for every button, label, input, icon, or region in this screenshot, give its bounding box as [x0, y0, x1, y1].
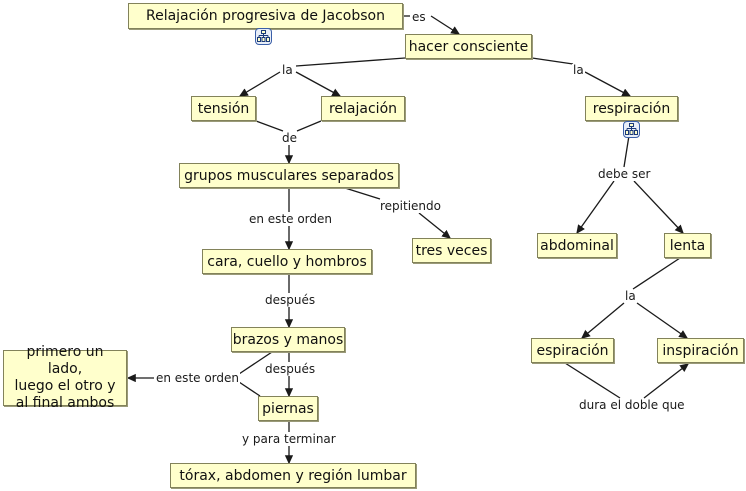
node-grupos[interactable]: grupos musculares separados: [179, 163, 399, 188]
link-label-despues2[interactable]: después: [264, 363, 316, 376]
edge-la2-resp: [585, 72, 630, 96]
node-cara[interactable]: cara, cuello y hombros: [202, 249, 372, 274]
node-tres[interactable]: tres veces: [412, 238, 491, 263]
edge-es-consc: [431, 16, 459, 34]
edge-la3-espir: [582, 303, 624, 338]
node-lenta[interactable]: lenta: [664, 233, 711, 258]
edge-debeser-abdom: [577, 181, 614, 233]
node-brazos[interactable]: brazos y manos: [231, 327, 345, 352]
link-label-la2[interactable]: la: [572, 64, 585, 77]
node-espir[interactable]: espiración: [531, 338, 614, 363]
edge-repit-tres: [419, 213, 450, 238]
concept-map-canvas: Relajación progresiva de Jacobsonhacer c…: [0, 0, 746, 491]
link-label-de[interactable]: de: [281, 132, 298, 145]
link-label-la1[interactable]: la: [281, 64, 294, 77]
node-consc[interactable]: hacer consciente: [405, 34, 532, 59]
edge-la1-relaj: [296, 72, 340, 96]
edge-debeser-lenta: [634, 181, 683, 233]
node-inspir[interactable]: inspiración: [657, 338, 744, 363]
node-orden3[interactable]: primero un lado, luego el otro y al fina…: [3, 350, 127, 406]
edge-espir-durael: [565, 363, 620, 398]
edge-durael-inspir: [644, 364, 688, 398]
link-label-durael[interactable]: dura el doble que: [578, 399, 686, 412]
edge-la1-tension: [240, 72, 280, 96]
node-abdominal[interactable]: abdominal: [537, 233, 617, 258]
edge-la3-inspir: [637, 303, 687, 338]
edge-consc-la1: [296, 58, 405, 66]
edge-lenta-la3: [633, 258, 680, 289]
node-root[interactable]: Relajación progresiva de Jacobson: [128, 3, 403, 29]
node-tension[interactable]: tensión: [191, 96, 256, 121]
node-resp[interactable]: respiración: [585, 96, 678, 121]
concept-map-icon[interactable]: [623, 121, 640, 138]
node-torax[interactable]: tórax, abdomen y región lumbar: [170, 463, 416, 488]
link-label-yparaterm[interactable]: y para terminar: [241, 433, 337, 446]
link-label-eneste1[interactable]: en este orden: [248, 213, 333, 226]
concept-map-icon[interactable]: [255, 28, 272, 45]
link-label-la3[interactable]: la: [624, 290, 637, 303]
link-label-eneste2[interactable]: en este orden: [155, 372, 240, 385]
edge-tension-de: [256, 121, 283, 131]
link-label-despues1[interactable]: después: [264, 294, 316, 307]
edge-relaj-de: [297, 121, 321, 131]
edge-consc-la2: [532, 58, 573, 64]
node-piernas[interactable]: piernas: [258, 396, 318, 421]
node-relaj[interactable]: relajación: [321, 96, 405, 121]
edge-grupos-repit: [345, 188, 380, 199]
edge-layer: [0, 0, 746, 491]
link-label-es[interactable]: es: [411, 11, 427, 24]
edge-piernas-eneste2: [239, 382, 260, 396]
link-label-debeser[interactable]: debe ser: [597, 168, 651, 181]
link-label-repitiendo[interactable]: repitiendo: [379, 200, 442, 213]
